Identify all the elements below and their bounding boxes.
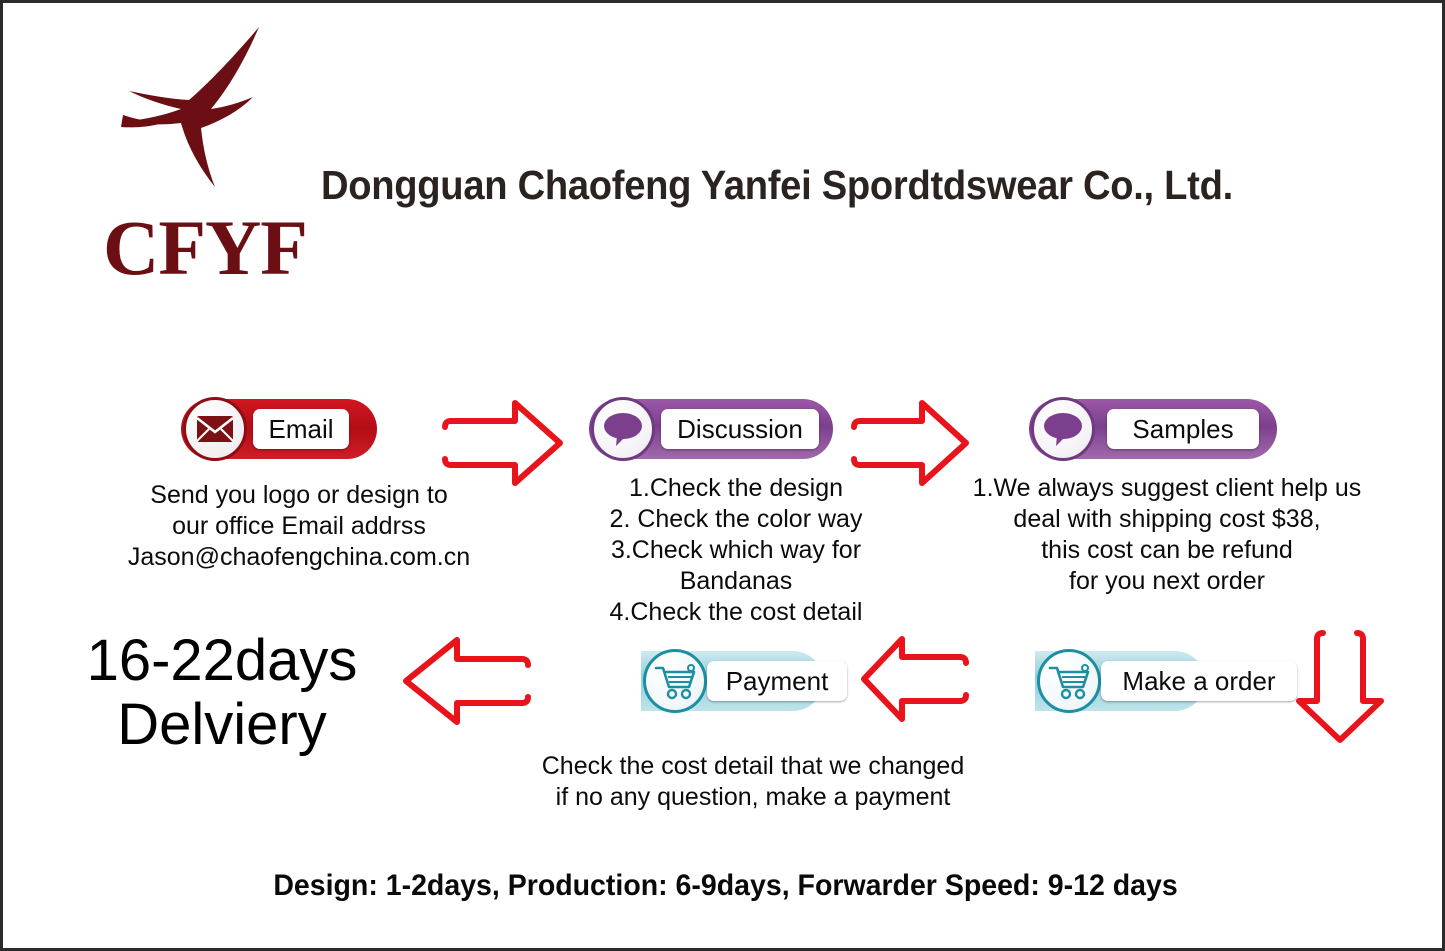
badge-payment[interactable]: Payment [641,651,823,711]
envelope-icon [183,397,247,461]
text-line: Delviery [47,693,397,757]
text-line: this cost can be refund [949,535,1385,566]
text-line: Check the cost detail that we changed [511,751,995,782]
arrow-samples-to-order-icon [1295,627,1385,745]
badge-payment-label: Payment [707,661,847,701]
cfyf-wordmark: CFYF [103,209,307,287]
shopping-cart-icon [643,649,707,713]
company-title: Dongguan Chaofeng Yanfei Spordtdswear Co… [321,161,1233,209]
delivery-time-callout: 16-22days Delviery [47,629,397,757]
badge-email[interactable]: Email [181,399,377,459]
text-line: 4.Check the cost detail [563,597,909,628]
speech-bubble-icon [1031,397,1095,461]
samples-description: 1.We always suggest client help us deal … [949,473,1385,597]
timeline-footer: Design: 1-2days, Production: 6-9days, Fo… [39,869,1412,903]
text-line: if no any question, make a payment [511,782,995,813]
badge-discussion-label: Discussion [661,409,819,449]
text-line: our office Email addrss [99,511,499,542]
badge-samples-label: Samples [1107,409,1259,449]
shopping-cart-icon [1037,649,1101,713]
text-line: 2. Check the color way [563,504,909,535]
flowchart-page: CFYF Dongguan Chaofeng Yanfei Spordtdswe… [0,0,1445,951]
arrow-discussion-to-samples-icon [849,399,971,487]
text-line: for you next order [949,566,1385,597]
text-line: deal with shipping cost $38, [949,504,1385,535]
arrow-payment-to-delivery-icon [401,635,533,727]
arrow-email-to-discussion-icon [439,399,565,487]
discussion-description: 1.Check the design 2. Check the color wa… [563,473,909,628]
swallow-bird-icon [107,25,307,200]
text-line: 1.We always suggest client help us [949,473,1385,504]
payment-description: Check the cost detail that we changed if… [511,751,995,813]
speech-bubble-icon [591,397,655,461]
badge-make-a-order-label: Make a order [1101,661,1297,701]
badge-make-a-order[interactable]: Make a order [1035,651,1205,711]
email-description: Send you logo or design to our office Em… [99,480,499,573]
text-line: 3.Check which way for Bandanas [563,535,909,597]
badge-discussion[interactable]: Discussion [589,399,833,459]
company-logo: CFYF [99,25,329,275]
arrow-order-to-payment-icon [859,635,971,723]
text-line: 16-22days [47,629,397,693]
badge-samples[interactable]: Samples [1029,399,1277,459]
text-line: Jason@chaofengchina.com.cn [99,542,499,573]
badge-email-label: Email [253,409,349,449]
